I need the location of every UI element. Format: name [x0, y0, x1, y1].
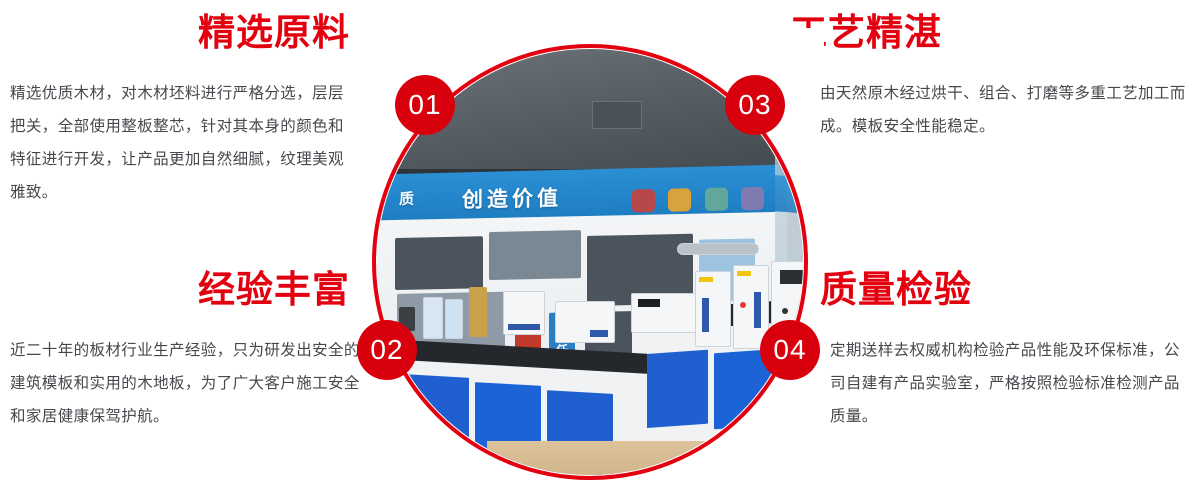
banner-hex-2 — [668, 188, 691, 211]
infographic-root: 精选原料 精选优质木材，对木材坯料进行严格分选，层层把关，全部使用整板整芯，针对… — [0, 0, 1200, 495]
scene-ceiling-vent — [592, 101, 642, 129]
fume-hose — [677, 243, 759, 255]
feature-heading-01: 精选原料 — [0, 14, 350, 51]
banner-small-text: 质 — [399, 188, 415, 209]
tower1-strip — [702, 298, 709, 332]
cabinet-door-r1 — [644, 350, 708, 428]
number-badge-02: 02 — [357, 320, 417, 380]
number-badge-04: 04 — [760, 320, 820, 380]
banner-hex-4 — [741, 187, 764, 210]
analyzer-knob — [782, 308, 788, 314]
number-badge-03: 03 — [725, 75, 785, 135]
banner-main-text: 创造价值 — [462, 182, 562, 214]
water-bath-panel — [590, 330, 608, 337]
feature-body-01: 精选优质木材，对木材坯料进行严格分选，层层把关，全部使用整板整芯，针对其本身的颜… — [0, 77, 350, 209]
instrument-tower-1 — [695, 271, 731, 347]
feature-heading-04: 质量检验 — [820, 271, 1200, 308]
banner-hex-3 — [705, 187, 728, 210]
tower2-strip — [754, 292, 761, 328]
feature-heading-02: 经验丰富 — [0, 271, 350, 308]
feature-body-03: 由天然原木经过烘干、组合、打磨等多重工艺加工而成。模板安全性能稳定。 — [820, 77, 1192, 143]
instrument-water-bath — [555, 301, 615, 343]
balance-display — [508, 324, 540, 330]
instrument-balance — [503, 291, 545, 335]
instrument-spectro — [631, 293, 697, 333]
spectro-display — [638, 299, 660, 307]
banner-hex-1 — [632, 189, 655, 212]
tower1-label — [699, 277, 713, 282]
analyzer-screen — [780, 270, 803, 284]
tower2-led — [740, 302, 746, 308]
instrument-stand — [469, 287, 487, 337]
tower2-label — [737, 271, 751, 276]
wall-photo-2 — [489, 230, 581, 280]
feature-block-02: 经验丰富 近二十年的板材行业生产经验，只为研发出安全的建筑模板和实用的木地板，为… — [0, 271, 350, 433]
feature-heading-03: 工艺精湛 — [790, 14, 1190, 51]
wall-photo-1 — [395, 236, 483, 290]
instrument-bottle-2 — [445, 299, 463, 339]
number-badge-01: 01 — [395, 75, 455, 135]
feature-block-04: 质量检验 定期送样去权威机构检验产品性能及环保标准，公司自建有产品实验室，严格按… — [820, 271, 1200, 433]
feature-block-03: 工艺精湛 由天然原木经过烘干、组合、打磨等多重工艺加工而成。模板安全性能稳定。 — [790, 14, 1190, 143]
feature-body-02: 近二十年的板材行业生产经验，只为研发出安全的建筑模板和实用的木地板，为了广大客户… — [0, 334, 360, 433]
cabinet-door-l1 — [403, 374, 469, 456]
feature-block-01: 精选原料 精选优质木材，对木材坯料进行严格分选，层层把关，全部使用整板整芯，针对… — [0, 14, 350, 209]
instrument-bottle-1 — [423, 297, 443, 339]
feature-body-04: 定期送样去权威机构检验产品性能及环保标准，公司自建有产品实验室，严格按照检验标准… — [830, 334, 1192, 433]
scene-floor — [487, 441, 747, 475]
